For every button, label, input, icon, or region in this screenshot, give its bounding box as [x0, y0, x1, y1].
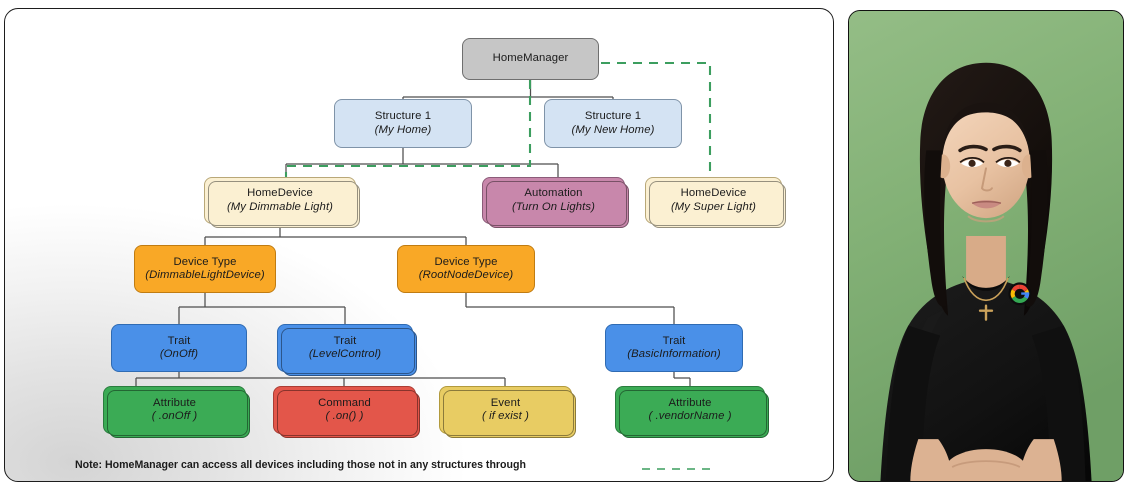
node-subtitle: (My New Home) — [572, 124, 655, 137]
node-title: Trait — [663, 335, 686, 348]
node-subtitle: (My Dimmable Light) — [227, 201, 333, 214]
node-subtitle: ( .on() ) — [326, 410, 364, 423]
node-subtitle: (My Super Light) — [671, 201, 756, 214]
slide-panel: HomeManagerStructure 1(My Home)Structure… — [4, 8, 834, 482]
node-attr-vendor[interactable]: Attribute( .vendorName ) — [615, 386, 765, 434]
node-structure-1[interactable]: Structure 1(My Home) — [334, 99, 472, 148]
node-title: Automation — [524, 187, 582, 200]
node-title: HomeDevice — [247, 187, 313, 200]
node-home-device-1[interactable]: HomeDevice(My Dimmable Light) — [204, 177, 356, 224]
node-subtitle: ( if exist ) — [482, 410, 529, 423]
node-title: Trait — [168, 335, 191, 348]
node-event-ifexist[interactable]: Event( if exist ) — [439, 386, 572, 434]
node-automation[interactable]: Automation(Turn On Lights) — [482, 177, 625, 224]
node-subtitle: (LevelControl) — [309, 348, 381, 361]
screenshot-root: HomeManagerStructure 1(My Home)Structure… — [0, 0, 1131, 490]
node-home-manager[interactable]: HomeManager — [462, 38, 599, 80]
node-subtitle: ( .onOff ) — [152, 410, 198, 423]
object-model-diagram: HomeManagerStructure 1(My Home)Structure… — [5, 9, 834, 482]
node-title: Event — [491, 397, 520, 410]
presenter-image — [849, 11, 1123, 481]
node-title: HomeDevice — [681, 187, 747, 200]
node-trait-level[interactable]: Trait(LevelControl) — [277, 324, 413, 372]
node-subtitle: (My Home) — [375, 124, 432, 137]
node-title: Command — [318, 397, 371, 410]
node-trait-basic[interactable]: Trait(BasicInformation) — [605, 324, 743, 372]
node-title: HomeManager — [493, 52, 569, 65]
diagram-note: Note: HomeManager can access all devices… — [75, 459, 526, 471]
node-title: Device Type — [434, 256, 497, 269]
node-title: Structure 1 — [375, 110, 431, 123]
node-subtitle: (RootNodeDevice) — [419, 269, 514, 282]
node-home-device-2[interactable]: HomeDevice(My Super Light) — [645, 177, 782, 224]
node-title: Attribute — [153, 397, 196, 410]
node-title: Device Type — [173, 256, 236, 269]
node-subtitle: (DimmableLightDevice) — [145, 269, 265, 282]
node-attr-onoff[interactable]: Attribute( .onOff ) — [103, 386, 246, 434]
node-title: Structure 1 — [585, 110, 641, 123]
node-subtitle: (Turn On Lights) — [512, 201, 595, 214]
node-command-on[interactable]: Command( .on() ) — [273, 386, 416, 434]
node-title: Attribute — [669, 397, 712, 410]
node-subtitle: (BasicInformation) — [627, 348, 720, 361]
green-dashed-line-icon — [642, 468, 712, 470]
node-subtitle: (OnOff) — [160, 348, 198, 361]
node-trait-onoff[interactable]: Trait(OnOff) — [111, 324, 247, 372]
node-subtitle: ( .vendorName ) — [648, 410, 731, 423]
node-device-type-1[interactable]: Device Type(DimmableLightDevice) — [134, 245, 276, 293]
node-structure-2[interactable]: Structure 1(My New Home) — [544, 99, 682, 148]
presenter-video-panel[interactable] — [848, 10, 1124, 482]
node-device-type-2[interactable]: Device Type(RootNodeDevice) — [397, 245, 535, 293]
node-title: Trait — [334, 335, 357, 348]
